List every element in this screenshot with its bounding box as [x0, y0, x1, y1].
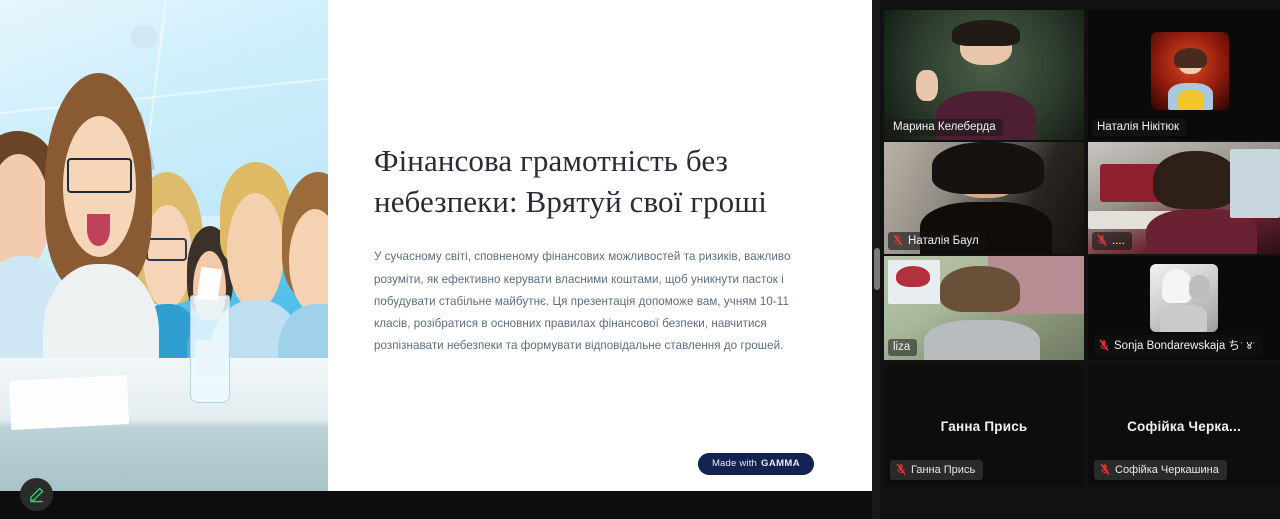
participant-name: Ганна Прись	[911, 464, 975, 476]
wall-picture-butterfly	[896, 266, 930, 287]
participant-avatar-photo	[1151, 32, 1229, 110]
illustration-papers	[9, 375, 129, 430]
participant-name-chip: Марина Келеберда	[888, 119, 1003, 136]
pencil-icon	[28, 486, 45, 503]
participant-name-chip: Sonja Bondarewskaja ちˑ ४ˑ	[1094, 335, 1263, 356]
participant-display-name: Ганна Прись	[941, 419, 1028, 434]
person-hair	[1153, 151, 1237, 209]
participant-tile-video[interactable]: Марина Келеберда	[884, 10, 1084, 140]
slide-title: Фінансова грамотність без небезпеки: Вря…	[374, 140, 769, 222]
participant-tile-video[interactable]: Наталія Нікітюк	[1088, 10, 1280, 140]
participant-name: liza	[893, 341, 910, 353]
slide-text-column: Фінансова грамотність без небезпеки: Вря…	[328, 0, 872, 491]
participant-name: Наталія Баул	[908, 235, 979, 247]
room-window	[1230, 149, 1280, 218]
mic-muted-icon	[896, 463, 906, 476]
screen-share-stage: Фінансова грамотність без небезпеки: Вря…	[0, 0, 872, 519]
person-hair	[952, 20, 1020, 46]
participant-name-chip: Софійка Черкашина	[1094, 460, 1227, 480]
participant-name: Марина Келеберда	[893, 121, 996, 133]
participant-name-chip: Наталія Нікітюк	[1092, 119, 1186, 136]
slide-body-text: У сучасному світі, сповненому фінансових…	[374, 246, 794, 357]
participant-name: Наталія Нікітюк	[1097, 121, 1179, 133]
participant-filmstrip: Марина Келеберда Наталія Нікітюк	[880, 0, 1280, 519]
participant-name-chip: ....	[1092, 232, 1132, 250]
participant-tile-video-active-speaker[interactable]: liza	[884, 256, 1084, 360]
participant-display-name: Софійка Черка...	[1127, 419, 1241, 434]
badge-prefix-label: Made with	[712, 458, 757, 469]
mic-muted-icon	[1100, 463, 1110, 476]
illustration-savings-jar	[190, 295, 229, 403]
participant-name-chip: Ганна Прись	[890, 460, 983, 480]
person-hair	[940, 266, 1020, 312]
participant-name-chip: Наталія Баул	[888, 232, 986, 250]
person-hand	[916, 70, 938, 101]
mic-muted-icon	[893, 234, 903, 247]
slide-illustration-classroom-students	[0, 0, 328, 491]
participant-avatar-photo	[1150, 264, 1218, 332]
annotate-pencil-button[interactable]	[20, 478, 53, 511]
participant-name-chip: liza	[888, 339, 917, 356]
participant-tile-video[interactable]: Sonja Bondarewskaja ちˑ ४ˑ	[1088, 256, 1280, 360]
participant-tile-video[interactable]: Наталія Баул	[884, 142, 1084, 254]
badge-brand-label: GAMMA	[761, 458, 800, 469]
participant-name: Софійка Черкашина	[1115, 464, 1219, 476]
participant-name: ....	[1112, 235, 1125, 247]
participant-name: Sonja Bondarewskaja ちˑ ४ˑ	[1114, 337, 1256, 353]
mic-muted-icon	[1099, 339, 1109, 352]
video-conference-window: Фінансова грамотність без небезпеки: Вря…	[0, 0, 1280, 519]
mic-muted-icon	[1097, 234, 1107, 247]
made-with-gamma-badge[interactable]: Made with GAMMA	[698, 453, 814, 475]
person-hair	[932, 142, 1044, 194]
participant-tile-camera-off[interactable]: Ганна Прись Ганна Прись	[884, 366, 1084, 486]
participant-tile-video[interactable]: ....	[1088, 142, 1280, 254]
person-torso	[924, 320, 1040, 360]
participant-tile-camera-off[interactable]: Софійка Черка... Софійка Черкашина	[1088, 366, 1280, 486]
presentation-slide: Фінансова грамотність без небезпеки: Вря…	[0, 0, 872, 491]
